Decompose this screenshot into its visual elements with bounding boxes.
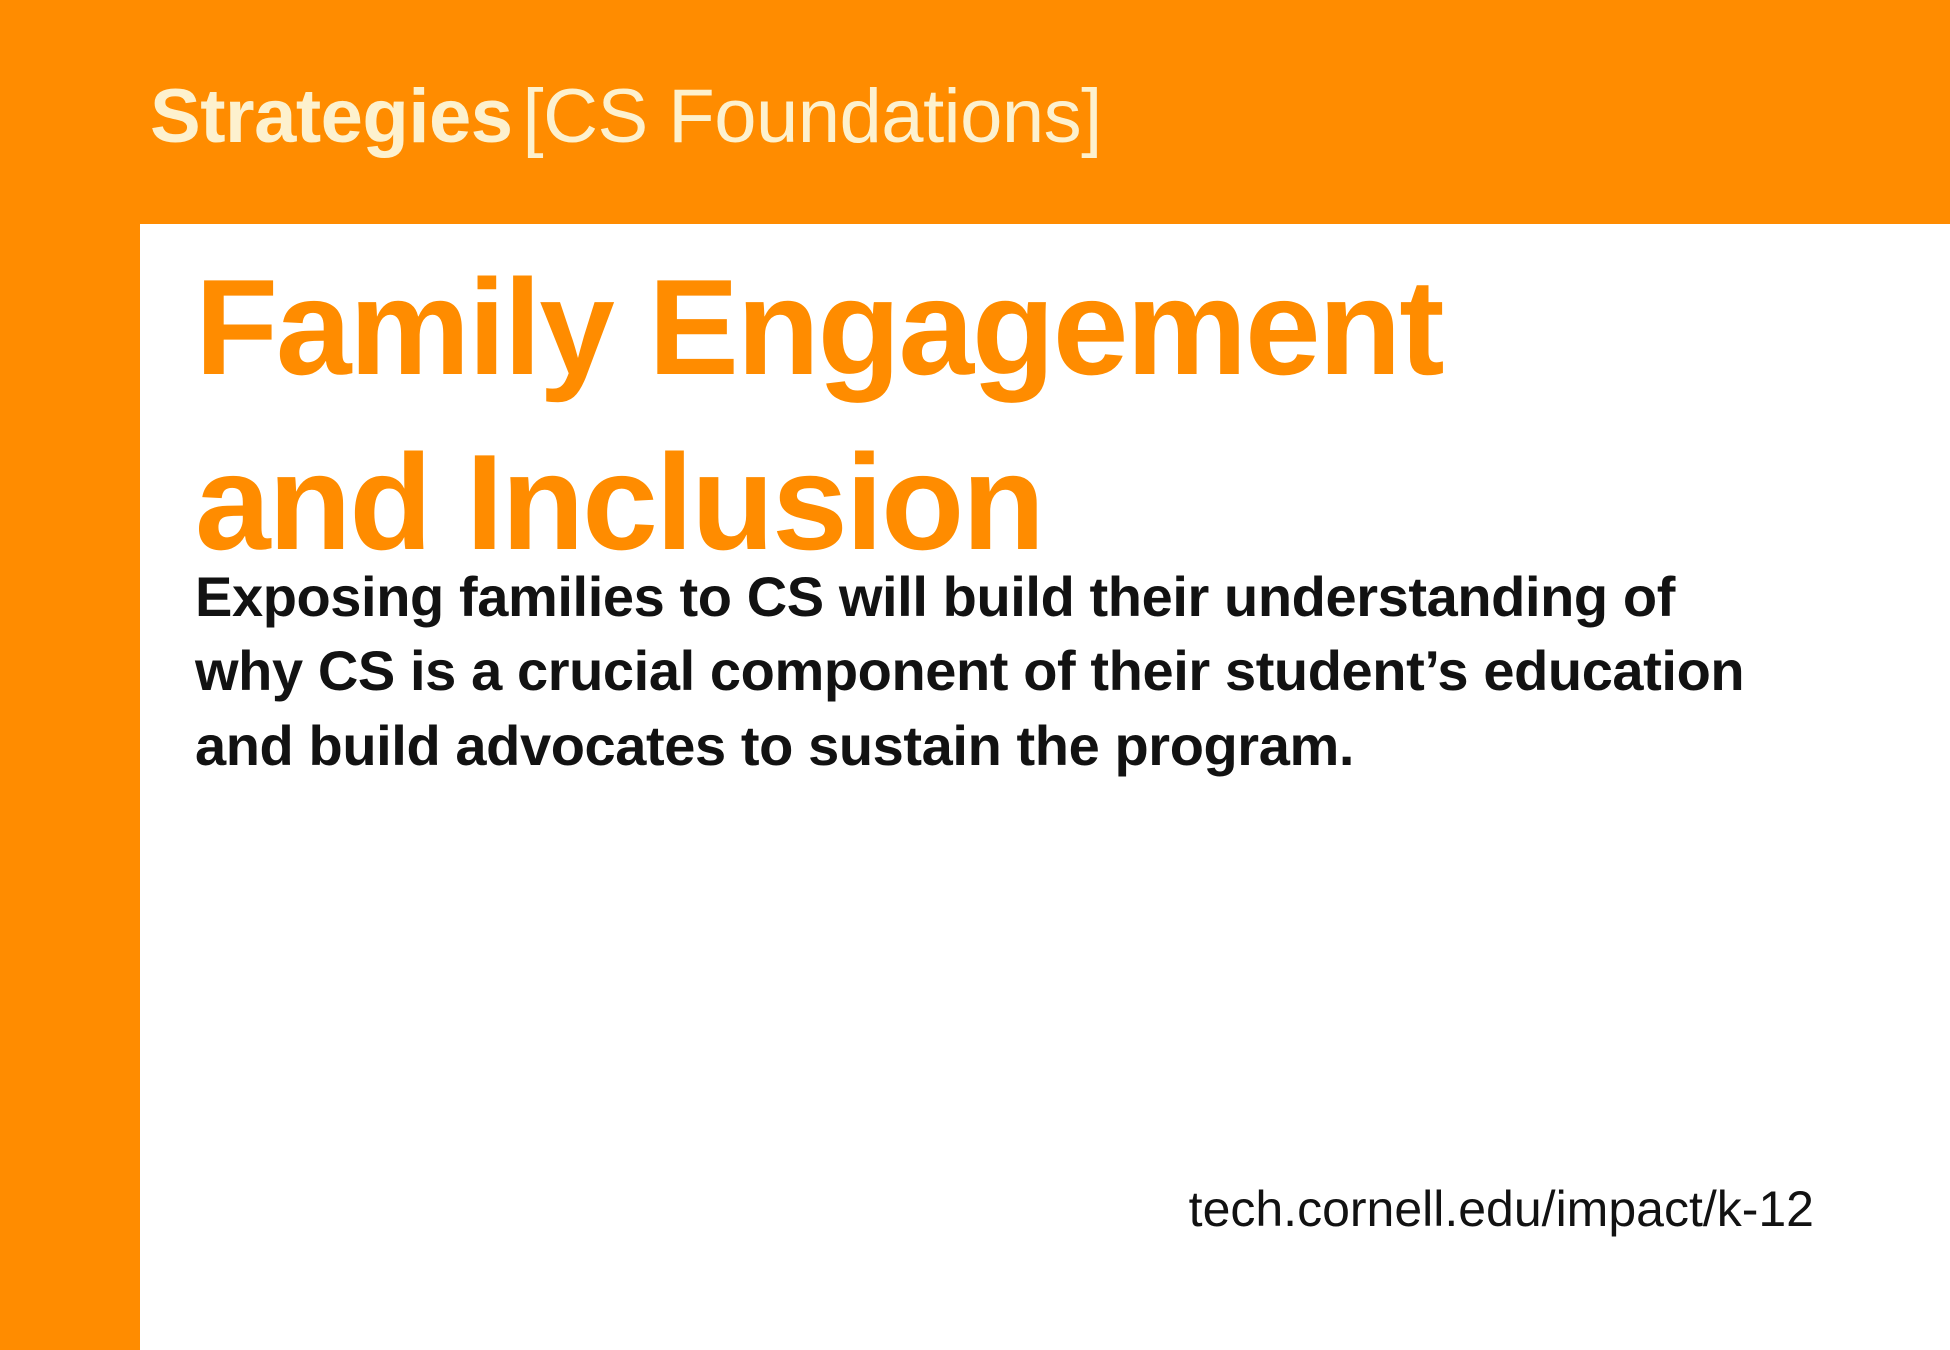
poster-root: Strategies[CS Foundations] Family Engage… [0, 0, 1950, 1350]
body-paragraph-line-2: why CS is a crucial component of their s… [195, 634, 1835, 708]
page-title-line-1: Family Engagement [195, 240, 1835, 415]
header-kicker-strong: Strategies [150, 74, 513, 159]
body-paragraph-line-1: Exposing families to CS will build their… [195, 560, 1835, 634]
header-kicker-light: [CS Foundations] [523, 74, 1102, 159]
header-kicker: Strategies[CS Foundations] [150, 79, 1102, 155]
footer-url[interactable]: tech.cornell.edu/impact/k-12 [1189, 1184, 1814, 1234]
header-band: Strategies[CS Foundations] [0, 0, 1950, 224]
body-paragraph-line-3: and build advocates to sustain the progr… [195, 709, 1835, 783]
page-title: Family Engagement and Inclusion [195, 240, 1835, 591]
body-paragraph: Exposing families to CS will build their… [195, 560, 1835, 783]
content-panel: Family Engagement and Inclusion Exposing… [140, 224, 1950, 1350]
